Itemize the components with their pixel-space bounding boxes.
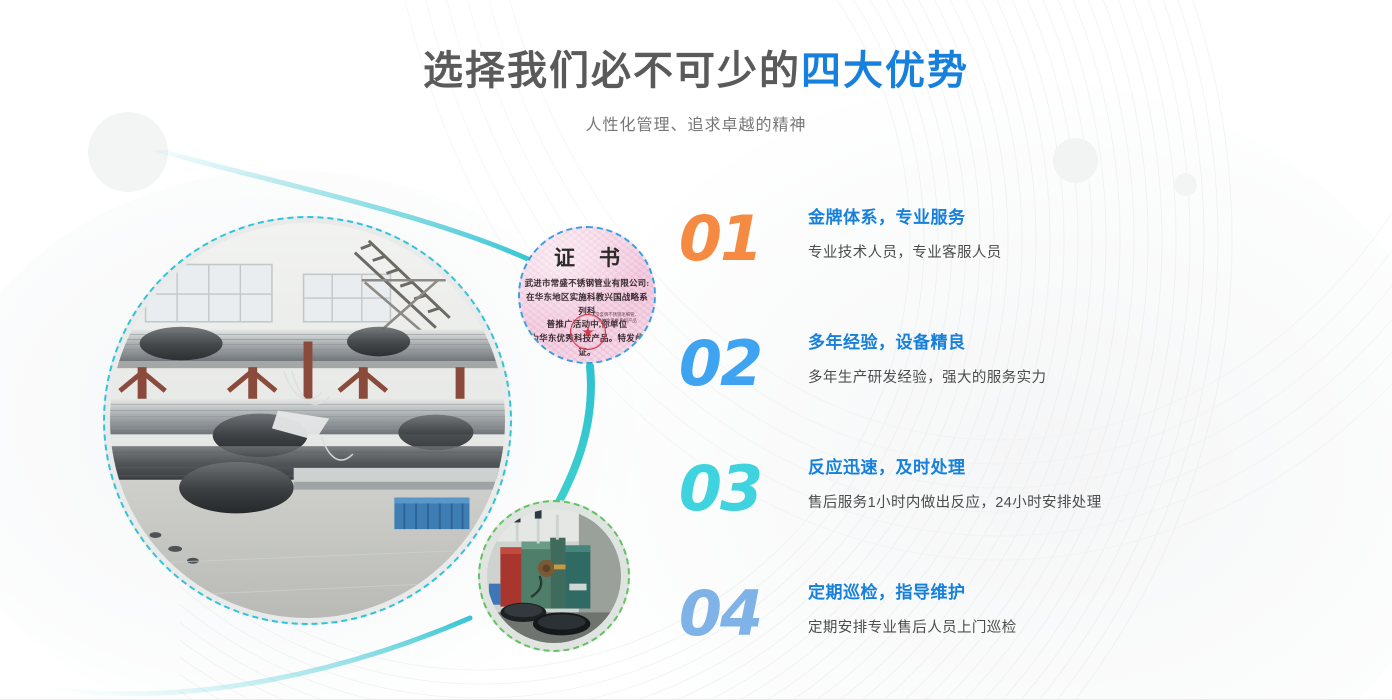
advantage-item-03[interactable]: 03 反应迅速，及时处理 售后服务1小时内做出反应，24小时安排处理: [660, 456, 1380, 581]
advantage-desc-01: 专业技术人员，专业客服人员: [808, 230, 1368, 263]
advantage-number-02: 02: [660, 333, 780, 395]
advantages-list: 01 金牌体系，专业服务 专业技术人员，专业客服人员 02 多年经验，设备精良 …: [660, 206, 1380, 700]
decor-circle-3: [1174, 173, 1197, 196]
certificate-line-1: 武进市常盛不锈钢管业有限公司:: [524, 277, 650, 291]
advantage-number-04: 04: [660, 583, 780, 645]
page-title-highlight: 四大优势: [801, 49, 969, 93]
advantage-item-02[interactable]: 02 多年经验，设备精良 多年生产研发经验，强大的服务实力: [660, 331, 1380, 456]
advantage-title-01: 金牌体系，专业服务: [808, 206, 1368, 230]
advantage-desc-04: 定期安排专业售后人员上门巡检: [808, 605, 1368, 638]
page-title: 选择我们必不可少的四大优势: [0, 0, 1392, 94]
certificate-stamp-icon: ★: [570, 314, 606, 350]
machinery-photo: [478, 500, 630, 652]
advantage-desc-03: 售后服务1小时内做出反应，24小时安排处理: [808, 480, 1368, 513]
advantage-number-03: 03: [660, 458, 780, 520]
advantage-item-01[interactable]: 01 金牌体系，专业服务 专业技术人员，专业客服人员: [660, 206, 1380, 331]
advantage-item-04[interactable]: 04 定期巡检，指导维护 定期安排专业售后人员上门巡检: [660, 581, 1380, 700]
certificate-photo: 证 书 武进市常盛不锈钢管业有限公司: 在华东地区实施科教兴国战略系列科 普推广…: [518, 226, 656, 364]
certificate-heading-right: 书: [599, 242, 620, 272]
advantage-desc-02: 多年生产研发经验，强大的服务实力: [808, 355, 1368, 388]
media-cluster: 证 书 武进市常盛不锈钢管业有限公司: 在华东地区实施科教兴国战略系列科 普推广…: [0, 150, 700, 700]
advantage-title-02: 多年经验，设备精良: [808, 331, 1368, 355]
page-title-plain: 选择我们必不可少的: [423, 49, 801, 93]
decor-circle-2: [1053, 138, 1098, 183]
advantages-section: 选择我们必不可少的四大优势 人性化管理、追求卓越的精神: [0, 0, 1392, 700]
machinery-image: [487, 509, 621, 643]
warehouse-image: [110, 223, 505, 618]
warehouse-photo: [103, 216, 512, 625]
advantage-title-03: 反应迅速，及时处理: [808, 456, 1368, 480]
section-header: 选择我们必不可少的四大优势 人性化管理、追求卓越的精神: [0, 0, 1392, 135]
advantage-title-04: 定期巡检，指导维护: [808, 581, 1368, 605]
advantage-number-01: 01: [660, 208, 780, 270]
certificate-heading-left: 证: [554, 242, 575, 272]
page-subtitle: 人性化管理、追求卓越的精神: [0, 94, 1392, 135]
certificate-heading: 证 书: [520, 242, 654, 272]
